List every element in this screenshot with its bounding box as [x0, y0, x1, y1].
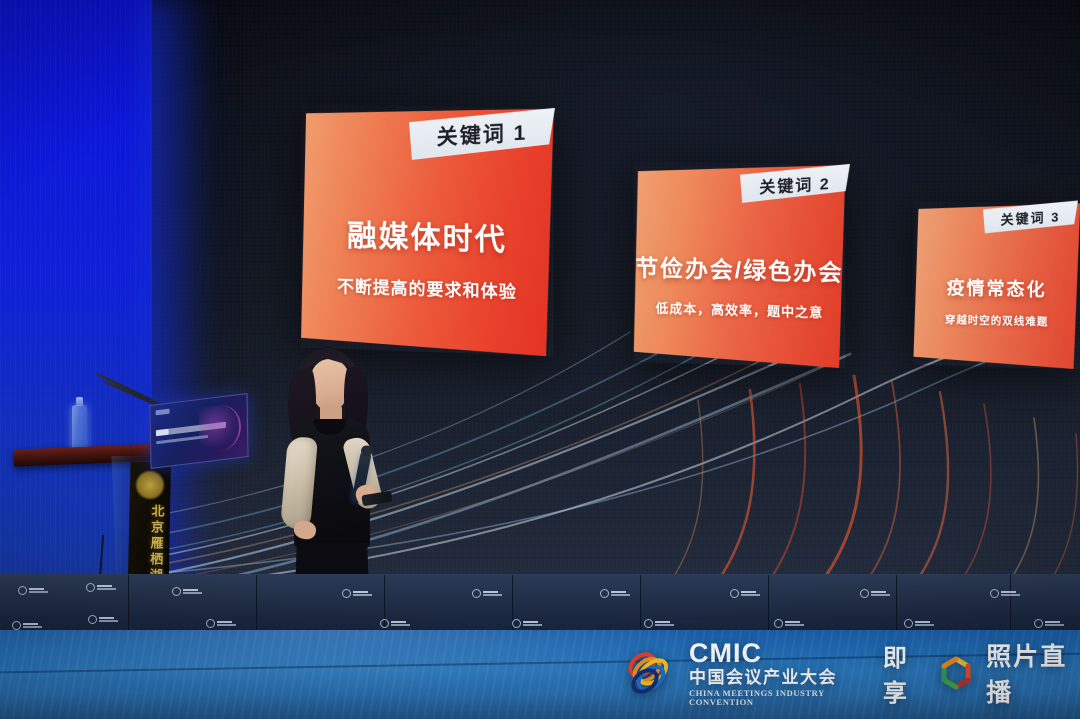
barrier-cmic-logo: [990, 589, 1020, 598]
barrier-cmic-logo: [512, 619, 542, 628]
barrier-cmic-logo: [12, 621, 42, 630]
cmic-ribbon-logo-icon: [625, 648, 677, 698]
barrier-cmic-logo: [774, 619, 804, 628]
barrier-cmic-logo: [904, 619, 934, 628]
barrier-cmic-logo: [644, 619, 674, 628]
cmic-sub-label: CHINA MEETINGS INDUSTRY CONVENTION: [689, 689, 865, 706]
podium-screen-badge-icon: [156, 409, 170, 416]
barrier-cmic-logo: [472, 589, 502, 598]
barrier-cmic-logo: [600, 589, 630, 598]
podium-screen-face-graphic: [199, 403, 242, 454]
photo-live-hexagon-icon: [938, 655, 974, 691]
barrier-cmic-logo: [86, 583, 116, 592]
partner-prefix-label: 即享: [883, 638, 926, 708]
keyword-card-2-subtitle: 低成本，高效率，题中之意: [656, 298, 824, 322]
barrier-cmic-logo: [380, 619, 410, 628]
partner-name-label: 照片直播: [986, 637, 1080, 709]
bottom-branding-overlay: CMIC 中国会议产业大会 CHINA MEETINGS INDUSTRY CO…: [625, 640, 1080, 706]
keyword-card-3-title: 疫情常态化: [947, 274, 1047, 302]
cmic-en-label: CMIC: [689, 640, 865, 667]
keyword-card-2-title: 节俭办会/绿色办会: [636, 249, 844, 288]
keyword-card-3-subtitle: 穿越时空的双线难题: [945, 312, 1048, 329]
keyword-card-1-subtitle: 不断提高的要求和体验: [337, 272, 517, 303]
barrier-cmic-logo: [1034, 619, 1064, 628]
conference-stage-photo: 融媒体时代 不断提高的要求和体验 关键词 1 节俭办会/绿色办会 低成本，高效率…: [0, 0, 1080, 719]
barrier-cmic-logo: [860, 589, 890, 598]
cmic-wordmark: CMIC 中国会议产业大会 CHINA MEETINGS INDUSTRY CO…: [689, 640, 865, 706]
stage-barrier: [0, 574, 1080, 637]
podium-emblem-icon: [135, 470, 165, 500]
barrier-cmic-logo: [206, 619, 236, 628]
barrier-cmic-logo: [88, 615, 118, 624]
barrier-cmic-logo: [342, 589, 372, 598]
podium-confidence-screen: [149, 393, 248, 469]
barrier-cmic-logo: [18, 586, 48, 595]
keyword-card-1-title: 融媒体时代: [347, 210, 507, 259]
cmic-cn-label: 中国会议产业大会: [689, 669, 865, 686]
barrier-cmic-logo: [730, 589, 760, 598]
barrier-cmic-logo: [172, 587, 202, 596]
